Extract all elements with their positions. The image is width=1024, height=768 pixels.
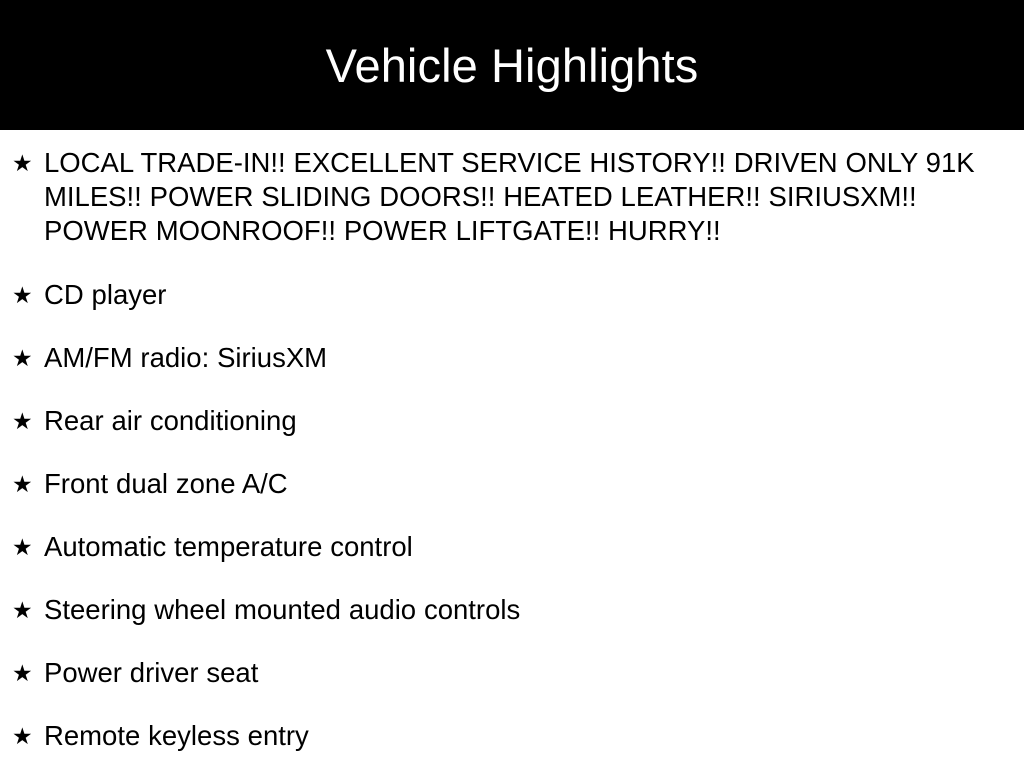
highlight-text: Steering wheel mounted audio controls <box>44 593 1006 627</box>
vehicle-highlights-list: ★ LOCAL TRADE-IN!! EXCELLENT SERVICE HIS… <box>0 130 1024 753</box>
list-item: ★ Steering wheel mounted audio controls <box>0 593 1024 627</box>
list-item: ★ Power driver seat <box>0 656 1024 690</box>
star-bullet-icon: ★ <box>12 467 44 501</box>
highlight-text: Front dual zone A/C <box>44 467 1006 501</box>
list-item: ★ LOCAL TRADE-IN!! EXCELLENT SERVICE HIS… <box>0 146 1024 248</box>
star-bullet-icon: ★ <box>12 530 44 564</box>
highlight-text: Rear air conditioning <box>44 404 1006 438</box>
highlight-text: Remote keyless entry <box>44 719 1006 753</box>
star-bullet-icon: ★ <box>12 278 44 312</box>
highlight-text: AM/FM radio: SiriusXM <box>44 341 1006 375</box>
list-item: ★ Remote keyless entry <box>0 719 1024 753</box>
star-bullet-icon: ★ <box>12 341 44 375</box>
star-bullet-icon: ★ <box>12 656 44 690</box>
list-item: ★ Front dual zone A/C <box>0 467 1024 501</box>
star-bullet-icon: ★ <box>12 593 44 627</box>
list-item: ★ CD player <box>0 278 1024 312</box>
page-title: Vehicle Highlights <box>326 42 699 89</box>
highlight-text: CD player <box>44 278 1006 312</box>
highlight-text: Power driver seat <box>44 656 1006 690</box>
star-bullet-icon: ★ <box>12 146 44 180</box>
highlight-text: LOCAL TRADE-IN!! EXCELLENT SERVICE HISTO… <box>44 146 1006 248</box>
header-banner: Vehicle Highlights <box>0 0 1024 130</box>
list-item: ★ Automatic temperature control <box>0 530 1024 564</box>
star-bullet-icon: ★ <box>12 404 44 438</box>
list-item: ★ AM/FM radio: SiriusXM <box>0 341 1024 375</box>
list-item: ★ Rear air conditioning <box>0 404 1024 438</box>
highlight-text: Automatic temperature control <box>44 530 1006 564</box>
vehicle-highlights-page: Vehicle Highlights ★ LOCAL TRADE-IN!! EX… <box>0 0 1024 768</box>
star-bullet-icon: ★ <box>12 719 44 753</box>
